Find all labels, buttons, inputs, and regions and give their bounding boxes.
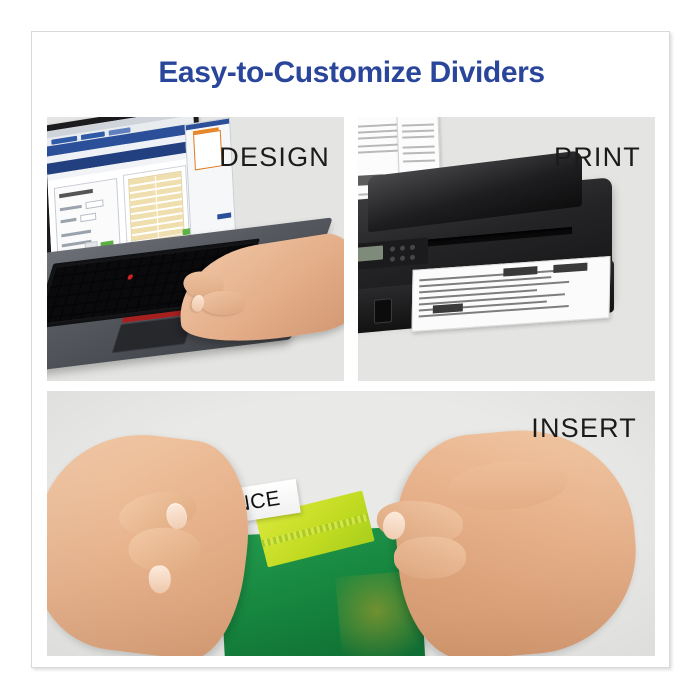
- printer-button[interactable]: [410, 245, 415, 250]
- control-panel[interactable]: [358, 237, 428, 270]
- panel-print: PRINT: [358, 117, 655, 381]
- page-title: Easy-to-Customize Dividers: [32, 56, 671, 90]
- panel-caption-design: DESIGN: [219, 142, 330, 173]
- printer-display: [358, 245, 383, 261]
- printer-button[interactable]: [390, 246, 395, 251]
- printer-button[interactable]: [390, 256, 395, 261]
- printer-button[interactable]: [400, 245, 405, 250]
- secondary-window: [185, 117, 237, 247]
- panel-insert: FINANCE INSERT: [47, 391, 655, 656]
- content-card: Easy-to-Customize Dividers: [31, 31, 670, 668]
- panel-caption-insert: INSERT: [531, 413, 637, 444]
- printer-button[interactable]: [400, 255, 405, 260]
- usb-port: [374, 298, 392, 324]
- product-feature-image: Easy-to-Customize Dividers: [0, 0, 700, 700]
- panel-design: DESIGN: [47, 117, 344, 381]
- printed-divider-sheet: [411, 256, 610, 332]
- printer-button[interactable]: [410, 255, 415, 260]
- panel-caption-print: PRINT: [554, 142, 641, 173]
